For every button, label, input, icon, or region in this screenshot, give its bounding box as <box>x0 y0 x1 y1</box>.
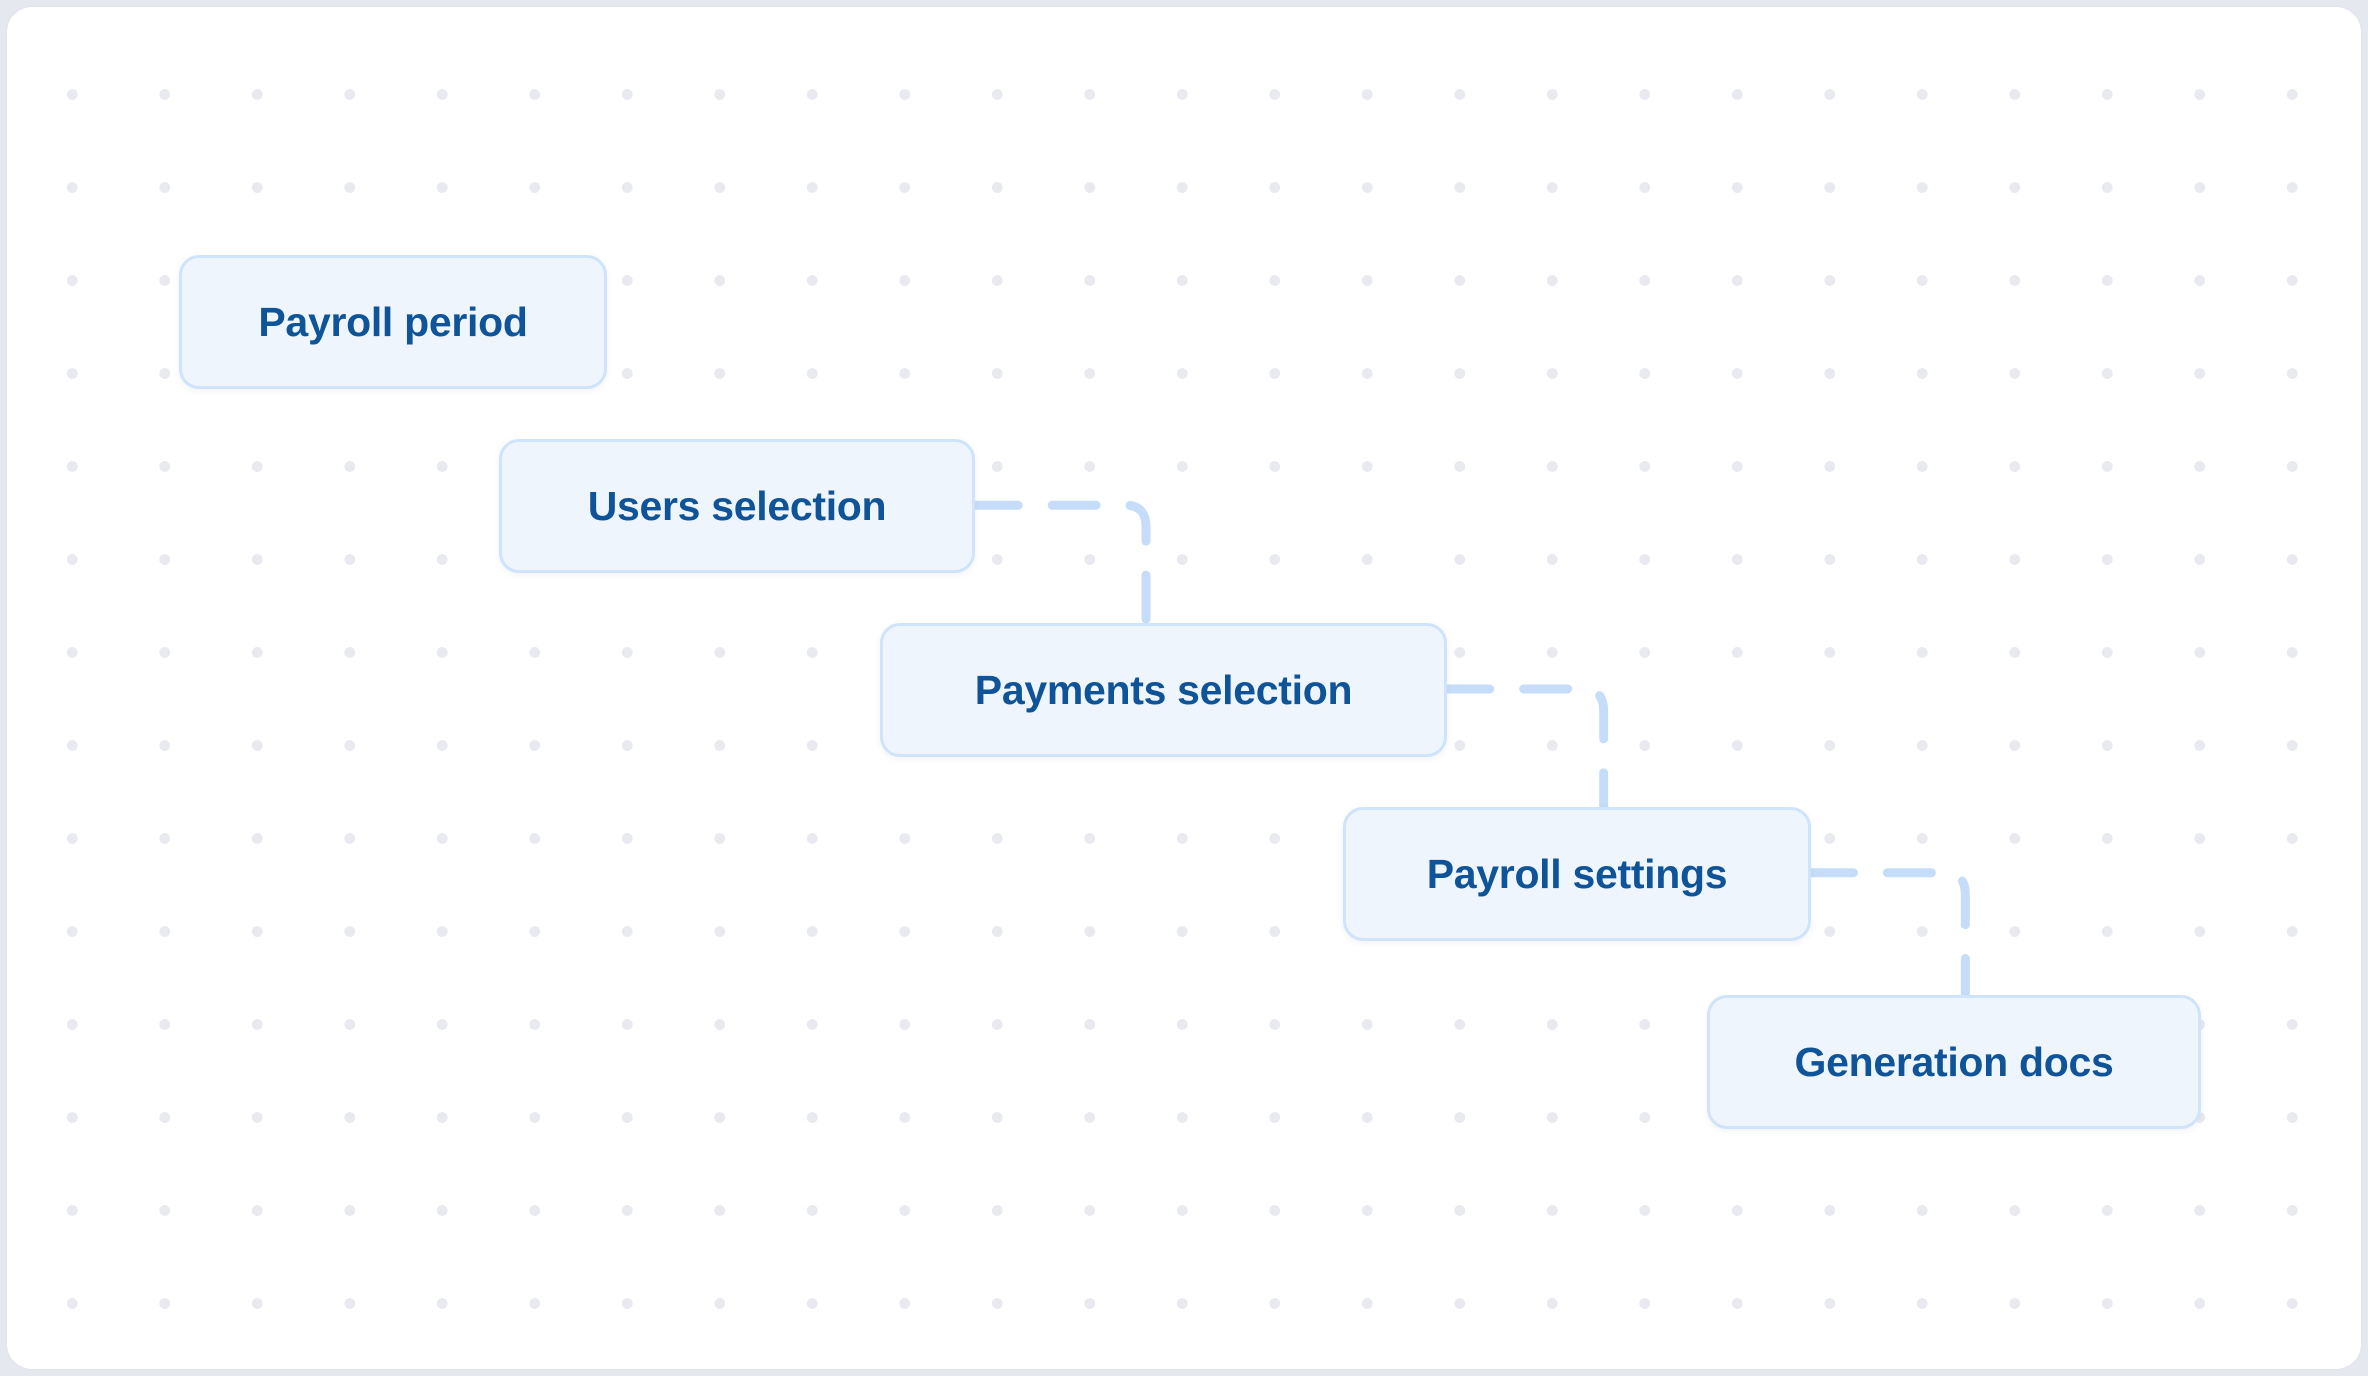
app-shell: Payroll periodUsers selectionPayments se… <box>0 0 2368 1376</box>
flow-node-payments-selection[interactable]: Payments selection <box>880 623 1447 757</box>
flow-node-payroll-settings[interactable]: Payroll settings <box>1343 807 1811 941</box>
flow-node-users-selection[interactable]: Users selection <box>499 439 975 573</box>
flow-node-payroll-period[interactable]: Payroll period <box>179 255 607 389</box>
flow-node-label: Generation docs <box>1794 1039 2113 1086</box>
flow-node-label: Payments selection <box>975 667 1352 714</box>
flow-node-label: Payroll settings <box>1427 851 1728 898</box>
flow-canvas[interactable]: Payroll periodUsers selectionPayments se… <box>6 6 2362 1370</box>
nodes-layer: Payroll periodUsers selectionPayments se… <box>7 7 2361 1369</box>
flow-node-generation-docs[interactable]: Generation docs <box>1707 995 2201 1129</box>
flow-node-label: Payroll period <box>258 299 527 346</box>
flow-node-label: Users selection <box>588 483 887 530</box>
